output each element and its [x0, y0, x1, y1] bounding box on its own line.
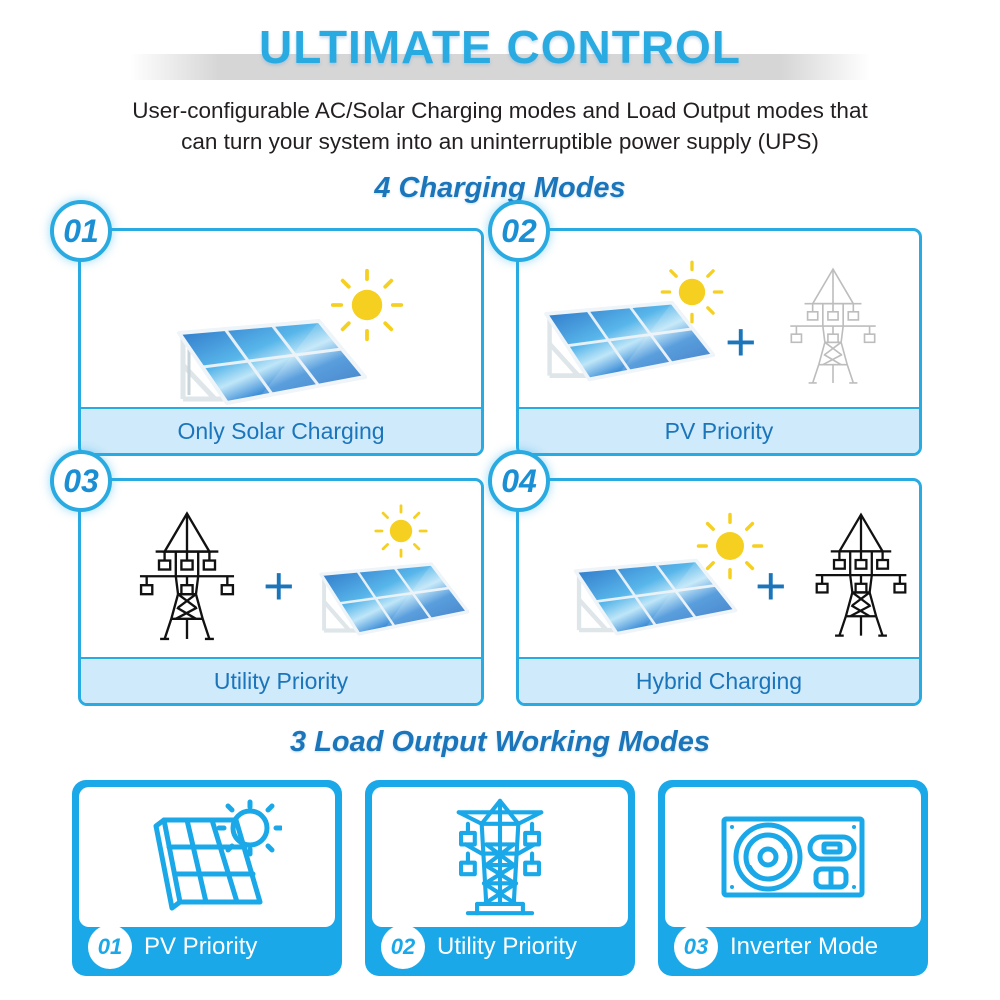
sun-icon — [373, 503, 429, 559]
card-04-number-badge: 04 — [488, 450, 550, 512]
load-card-03-footer: 03 Inverter Mode — [658, 918, 928, 976]
charging-mode-card-02[interactable]: + — [516, 228, 922, 456]
load-card-01-icon-area — [79, 787, 335, 927]
plus-icon: + — [725, 315, 757, 369]
card-02-number-badge: 02 — [488, 200, 550, 262]
solar-panel-sun-outline-icon — [132, 798, 282, 916]
load-card-03-badge: 03 — [674, 925, 718, 969]
section-heading-load-output: 3 Load Output Working Modes — [0, 726, 1000, 759]
load-card-01-badge: 01 — [88, 925, 132, 969]
title-block: ULTIMATE CONTROL — [0, 18, 1000, 80]
page-title: ULTIMATE CONTROL — [0, 18, 1000, 76]
charging-mode-card-03[interactable]: + — [78, 478, 484, 706]
load-card-02-label: Utility Priority — [437, 933, 577, 961]
load-mode-card-03[interactable]: 03 Inverter Mode — [658, 780, 928, 976]
card-04-artwork: + — [519, 481, 919, 657]
card-01-label: Only Solar Charging — [177, 418, 384, 445]
card-03-label-bar: Utility Priority — [81, 657, 481, 703]
load-mode-card-01[interactable]: 01 PV Priority — [72, 780, 342, 976]
card-04-inner: + — [519, 481, 919, 703]
card-03-artwork: + — [81, 481, 481, 657]
card-02-label-bar: PV Priority — [519, 407, 919, 453]
card-03-label: Utility Priority — [214, 668, 348, 695]
transmission-tower-outline-icon — [441, 794, 559, 920]
load-card-03-label: Inverter Mode — [730, 933, 878, 961]
solar-panel-icon — [313, 559, 471, 639]
card-02-label: PV Priority — [665, 418, 774, 445]
load-card-01-label: PV Priority — [144, 933, 257, 961]
transmission-tower-icon — [807, 499, 915, 647]
inverter-box-icon — [718, 811, 868, 903]
card-01-artwork — [81, 231, 481, 407]
load-card-02-footer: 02 Utility Priority — [365, 918, 635, 976]
solar-panel-icon — [169, 315, 369, 409]
load-mode-card-02[interactable]: 02 Utility Priority — [365, 780, 635, 976]
card-01-number-badge: 01 — [50, 200, 112, 262]
charging-mode-card-04[interactable]: + — [516, 478, 922, 706]
transmission-tower-icon — [781, 263, 885, 385]
solar-panel-icon — [537, 297, 717, 385]
card-02-artwork: + — [519, 231, 919, 407]
plus-icon: + — [263, 559, 295, 613]
load-card-03-icon-area — [665, 787, 921, 927]
load-card-02-badge: 02 — [381, 925, 425, 969]
card-03-inner: + — [81, 481, 481, 703]
card-04-label: Hybrid Charging — [636, 668, 802, 695]
section-heading-charging: 4 Charging Modes — [0, 172, 1000, 205]
card-04-label-bar: Hybrid Charging — [519, 657, 919, 703]
load-card-02-icon-area — [372, 787, 628, 927]
charging-mode-card-01[interactable]: Only Solar Charging 01 — [78, 228, 484, 456]
card-03-number-badge: 03 — [50, 450, 112, 512]
card-01-inner: Only Solar Charging — [81, 231, 481, 453]
infographic-page: ULTIMATE CONTROL User-configurable AC/So… — [0, 0, 1000, 1000]
card-01-label-bar: Only Solar Charging — [81, 407, 481, 453]
card-02-inner: + — [519, 231, 919, 453]
subtitle-line-2: can turn your system into an uninterrupt… — [60, 126, 940, 157]
plus-icon: + — [755, 559, 787, 613]
transmission-tower-icon — [131, 495, 243, 653]
load-card-01-footer: 01 PV Priority — [72, 918, 342, 976]
solar-panel-icon — [567, 555, 739, 639]
subtitle-line-1: User-configurable AC/Solar Charging mode… — [60, 95, 940, 126]
subtitle: User-configurable AC/Solar Charging mode… — [60, 95, 940, 157]
